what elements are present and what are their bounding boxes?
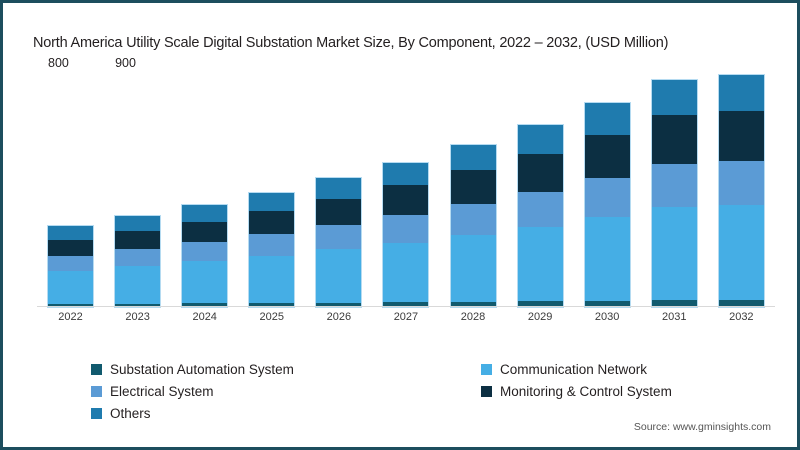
x-axis-tick: 2028 [451, 311, 496, 323]
bar-segment[interactable] [451, 204, 496, 235]
legend-label: Communication Network [500, 362, 647, 377]
stacked-bar[interactable] [518, 125, 563, 307]
stacked-bar[interactable] [719, 75, 764, 307]
bar-segment[interactable] [451, 170, 496, 204]
bar-segment[interactable] [518, 125, 563, 153]
bar-segment[interactable] [719, 111, 764, 160]
bar-segment[interactable] [316, 249, 361, 302]
bar-slot [316, 75, 361, 307]
legend-item[interactable]: Monitoring & Control System [481, 384, 731, 399]
stacked-bar[interactable] [585, 103, 630, 307]
bar-slot [719, 75, 764, 307]
chart-legend: Substation Automation SystemCommunicatio… [91, 358, 731, 424]
bar-segment[interactable] [48, 240, 93, 255]
bar-value-label: 900 [115, 56, 136, 70]
bar-segment[interactable] [249, 193, 294, 211]
bar-slot [182, 75, 227, 307]
stacked-bar[interactable] [316, 178, 361, 307]
source-attribution: Source: www.gminsights.com [634, 421, 771, 433]
bar-segment[interactable] [316, 178, 361, 198]
bar-slot [518, 75, 563, 307]
x-axis-tick: 2029 [518, 311, 563, 323]
legend-label: Monitoring & Control System [500, 384, 672, 399]
chart-title: North America Utility Scale Digital Subs… [33, 35, 668, 51]
x-axis-tick: 2026 [316, 311, 361, 323]
bar-slot [585, 75, 630, 307]
stacked-bar[interactable] [249, 193, 294, 307]
bar-segment[interactable] [585, 135, 630, 178]
bar-segment[interactable] [451, 145, 496, 170]
stacked-bar[interactable] [383, 163, 428, 307]
bar-segment[interactable] [518, 154, 563, 192]
x-axis-labels: 2022202320242025202620272028202920302031… [37, 311, 775, 323]
stacked-bar[interactable] [451, 145, 496, 307]
bar-segment[interactable] [518, 192, 563, 226]
bar-segment[interactable] [652, 115, 697, 163]
bar-slot [249, 75, 294, 307]
legend-color-swatch [481, 386, 492, 397]
bar-segment[interactable] [383, 185, 428, 215]
legend-label: Substation Automation System [110, 362, 294, 377]
legend-color-swatch [91, 408, 102, 419]
bar-segment[interactable] [182, 205, 227, 222]
bar-group: 800900 [37, 75, 775, 307]
bar-segment[interactable] [652, 164, 697, 207]
x-axis-tick: 2027 [383, 311, 428, 323]
legend-color-swatch [91, 364, 102, 375]
bar-segment[interactable] [48, 226, 93, 240]
x-axis-tick: 2023 [115, 311, 160, 323]
bar-segment[interactable] [48, 271, 93, 304]
bar-segment[interactable] [585, 103, 630, 135]
bar-segment[interactable] [719, 205, 764, 300]
plot-area: 800900 [37, 75, 775, 307]
bar-segment[interactable] [719, 161, 764, 205]
x-axis-tick: 2022 [48, 311, 93, 323]
bar-slot [383, 75, 428, 307]
bar-segment[interactable] [383, 163, 428, 186]
bar-segment[interactable] [115, 231, 160, 249]
bar-segment[interactable] [249, 234, 294, 256]
legend-item[interactable]: Electrical System [91, 384, 481, 399]
bar-segment[interactable] [115, 249, 160, 266]
bar-segment[interactable] [115, 266, 160, 304]
bar-slot [451, 75, 496, 307]
x-axis-tick: 2030 [585, 311, 630, 323]
bar-segment[interactable] [719, 75, 764, 111]
bar-segment[interactable] [585, 178, 630, 217]
x-axis-tick: 2025 [249, 311, 294, 323]
bar-segment[interactable] [48, 256, 93, 271]
bar-segment[interactable] [518, 227, 563, 302]
legend-item[interactable]: Others [91, 406, 481, 421]
bar-segment[interactable] [652, 80, 697, 116]
x-axis-line [37, 306, 775, 307]
legend-color-swatch [91, 386, 102, 397]
bar-segment[interactable] [182, 222, 227, 242]
bar-segment[interactable] [316, 199, 361, 225]
bar-value-label: 800 [48, 56, 69, 70]
stacked-bar[interactable] [182, 205, 227, 307]
bar-slot [652, 75, 697, 307]
bar-segment[interactable] [249, 211, 294, 234]
bar-segment[interactable] [115, 216, 160, 231]
bar-segment[interactable] [182, 261, 227, 303]
bar-segment[interactable] [316, 225, 361, 250]
bar-segment[interactable] [585, 217, 630, 301]
stacked-bar[interactable]: 900 [115, 216, 160, 307]
legend-label: Others [110, 406, 151, 421]
stacked-bar[interactable]: 800 [48, 226, 93, 307]
x-axis-tick: 2031 [652, 311, 697, 323]
legend-item[interactable]: Communication Network [481, 362, 731, 377]
bar-segment[interactable] [182, 242, 227, 261]
legend-item[interactable]: Substation Automation System [91, 362, 481, 377]
chart-frame: North America Utility Scale Digital Subs… [0, 0, 800, 450]
bar-segment[interactable] [383, 243, 428, 303]
legend-color-swatch [481, 364, 492, 375]
bar-segment[interactable] [249, 256, 294, 303]
x-axis-tick: 2032 [719, 311, 764, 323]
bar-segment[interactable] [652, 207, 697, 300]
stacked-bar[interactable] [652, 80, 697, 307]
x-axis-tick: 2024 [182, 311, 227, 323]
legend-label: Electrical System [110, 384, 214, 399]
bar-slot: 900 [115, 75, 160, 307]
bar-slot: 800 [48, 75, 93, 307]
bar-segment[interactable] [383, 215, 428, 242]
bar-segment[interactable] [451, 235, 496, 302]
